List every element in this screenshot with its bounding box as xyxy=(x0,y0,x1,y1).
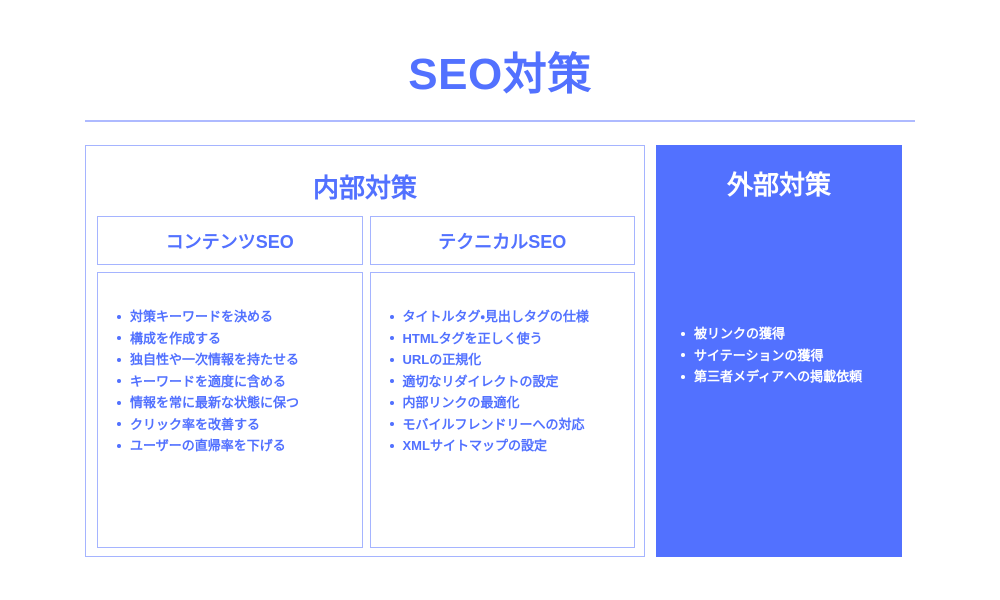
list-item: URLの正規化 xyxy=(403,349,625,371)
column-technical-seo: テクニカルSEO タイトルタグ・見出しタグの仕様 HTMLタグを正しく使う UR… xyxy=(370,216,636,548)
list-item: 内部リンクの最適化 xyxy=(403,392,625,414)
list-item: 適切なリダイレクトの設定 xyxy=(403,371,625,393)
column-body-technical-seo: タイトルタグ・見出しタグの仕様 HTMLタグを正しく使う URLの正規化 適切な… xyxy=(370,272,636,548)
internal-measures-title: 内部対策 xyxy=(86,168,644,205)
title-divider xyxy=(85,120,915,122)
list-item: ユーザーの直帰率を下げる xyxy=(130,435,352,457)
list-item: キーワードを適度に含める xyxy=(130,371,352,393)
list-item: 被リンクの獲得 xyxy=(694,323,894,345)
list-item: 第三者メディアへの掲載依頼 xyxy=(694,366,894,388)
list-item: 独自性や一次情報を持たせる xyxy=(130,349,352,371)
content-seo-list: 対策キーワードを決める 構成を作成する 独自性や一次情報を持たせる キーワードを… xyxy=(108,306,352,457)
external-measures-panel: 外部対策 被リンクの獲得 サイテーションの獲得 第三者メディアへの掲載依頼 xyxy=(656,145,902,557)
external-list-wrap: 被リンクの獲得 サイテーションの獲得 第三者メディアへの掲載依頼 xyxy=(672,323,894,388)
list-item: タイトルタグ・見出しタグの仕様 xyxy=(403,306,625,328)
list-item: サイテーションの獲得 xyxy=(694,345,894,367)
list-item: XMLサイトマップの設定 xyxy=(403,435,625,457)
external-measures-title: 外部対策 xyxy=(656,165,902,202)
column-heading-technical-seo: テクニカルSEO xyxy=(370,216,636,265)
page-title: SEO対策 xyxy=(0,50,1000,101)
column-content-seo: コンテンツSEO 対策キーワードを決める 構成を作成する 独自性や一次情報を持た… xyxy=(97,216,363,548)
list-item: 情報を常に最新な状態に保つ xyxy=(130,392,352,414)
internal-measures-panel: 内部対策 コンテンツSEO 対策キーワードを決める 構成を作成する 独自性や一次… xyxy=(85,145,645,557)
list-item: クリック率を改善する xyxy=(130,414,352,436)
external-measures-list: 被リンクの獲得 サイテーションの獲得 第三者メディアへの掲載依頼 xyxy=(672,323,894,388)
slide-canvas: SEO対策 内部対策 コンテンツSEO 対策キーワードを決める 構成を作成する … xyxy=(0,0,1000,600)
column-heading-content-seo: コンテンツSEO xyxy=(97,216,363,265)
list-item: 構成を作成する xyxy=(130,328,352,350)
list-item: 対策キーワードを決める xyxy=(130,306,352,328)
list-item: HTMLタグを正しく使う xyxy=(403,328,625,350)
column-body-content-seo: 対策キーワードを決める 構成を作成する 独自性や一次情報を持たせる キーワードを… xyxy=(97,272,363,548)
technical-seo-list: タイトルタグ・見出しタグの仕様 HTMLタグを正しく使う URLの正規化 適切な… xyxy=(381,306,625,457)
list-item: モバイルフレンドリーへの対応 xyxy=(403,414,625,436)
internal-columns: コンテンツSEO 対策キーワードを決める 構成を作成する 独自性や一次情報を持た… xyxy=(97,216,635,548)
